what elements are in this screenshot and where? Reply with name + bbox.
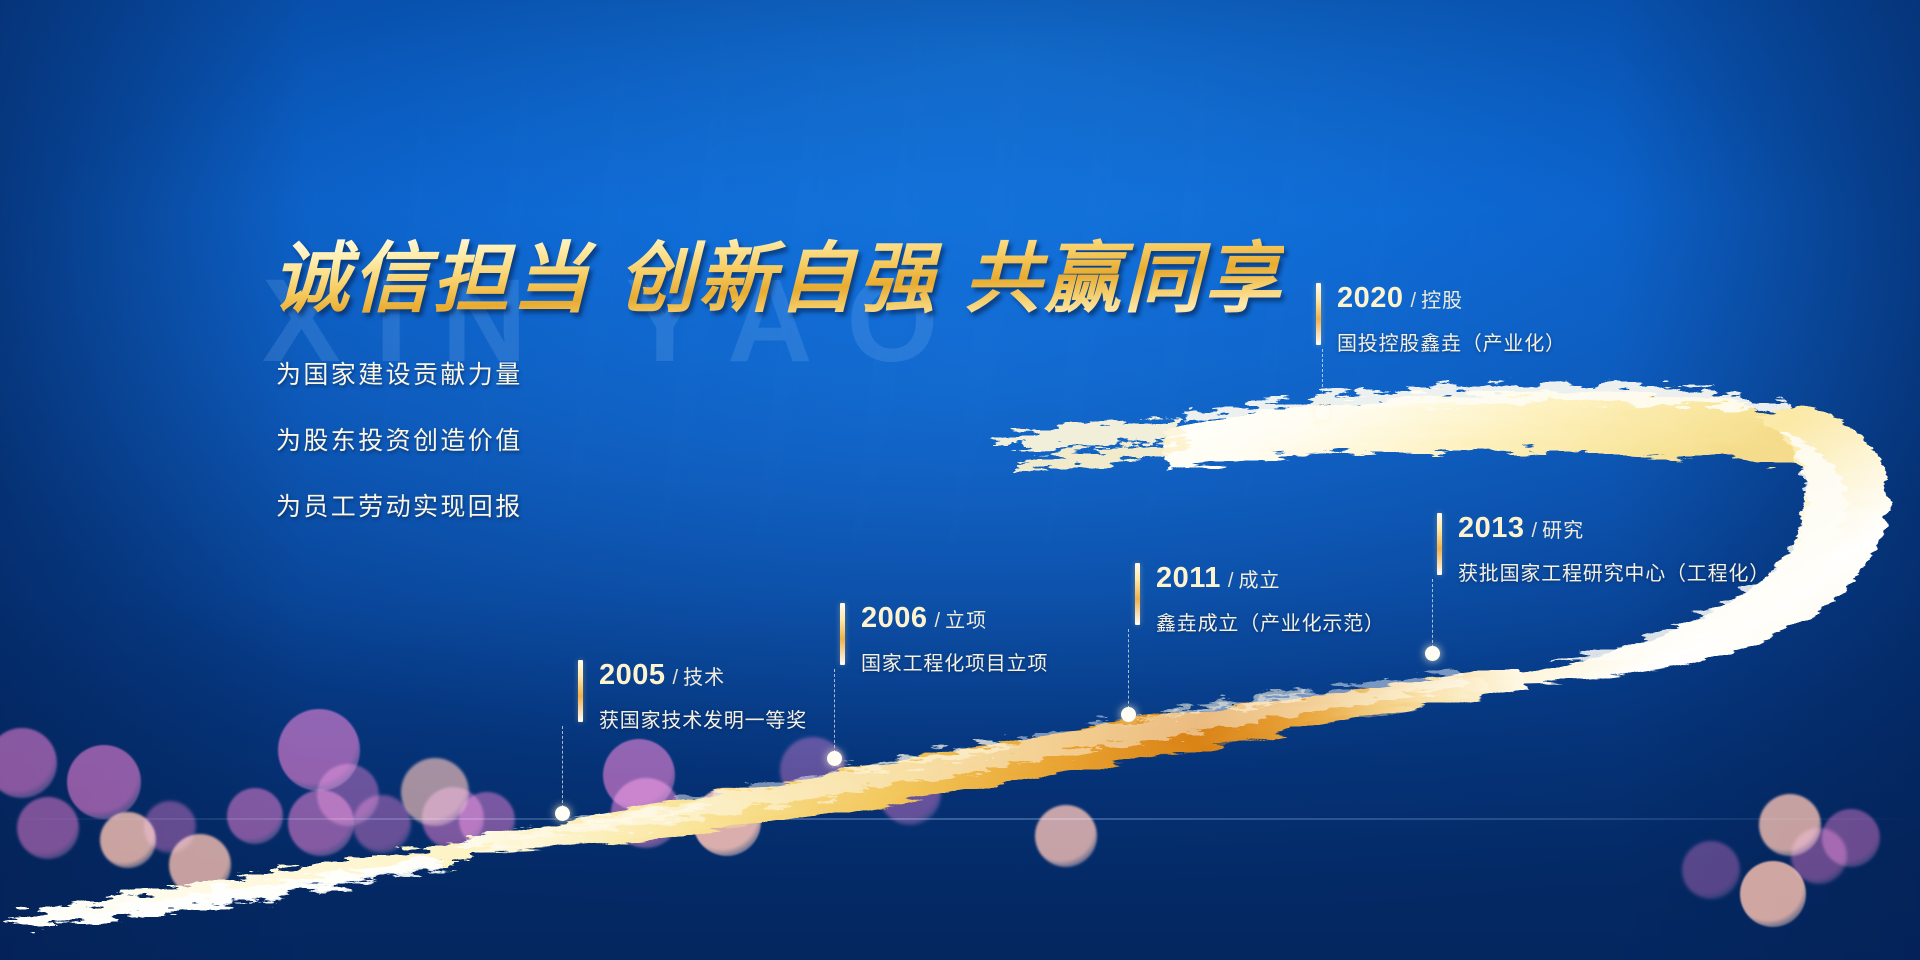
milestone-description: 国投控股鑫垚（产业化） xyxy=(1337,327,1566,356)
milestone-title-line: 2020/控股 xyxy=(1337,284,1566,313)
milestone-head: 2011/成立 鑫垚成立（产业化示范） xyxy=(1135,563,1385,636)
milestone-dot[interactable] xyxy=(1315,405,1330,420)
milestone-accent-bar xyxy=(1437,513,1442,575)
milestone-head: 2005/技术 获国家技术发明一等奖 xyxy=(578,660,807,733)
milestone-dot[interactable] xyxy=(827,751,842,766)
slogan-list: 为国家建设贡献力量 为股东投资创造价值 为员工劳动实现回报 xyxy=(276,355,523,523)
milestone-kind: 研究 xyxy=(1542,520,1584,542)
milestone-2020[interactable]: 2020/控股 国投控股鑫垚（产业化） xyxy=(1316,283,1566,356)
milestone-accent-bar xyxy=(840,603,845,665)
milestone-2005[interactable]: 2005/技术 获国家技术发明一等奖 xyxy=(578,660,807,733)
milestone-kind: 成立 xyxy=(1238,570,1280,592)
milestone-separator: / xyxy=(673,667,679,689)
milestone-separator: / xyxy=(1532,520,1538,542)
milestone-2011[interactable]: 2011/成立 鑫垚成立（产业化示范） xyxy=(1135,563,1385,636)
slogan-line-1: 为国家建设贡献力量 xyxy=(276,355,523,391)
milestone-year: 2006 xyxy=(861,602,928,634)
milestone-2013[interactable]: 2013/研究 获批国家工程研究中心（工程化） xyxy=(1437,513,1770,586)
milestone-year: 2020 xyxy=(1337,282,1404,314)
milestone-dot[interactable] xyxy=(555,806,570,821)
milestone-2006[interactable]: 2006/立项 国家工程化项目立项 xyxy=(840,603,1048,676)
milestone-texts: 2020/控股 国投控股鑫垚（产业化） xyxy=(1337,283,1566,356)
milestone-description: 国家工程化项目立项 xyxy=(861,647,1048,676)
milestone-kind: 技术 xyxy=(683,667,725,689)
milestone-kind: 立项 xyxy=(945,610,987,632)
milestone-title-line: 2005/技术 xyxy=(599,661,807,690)
milestone-head: 2013/研究 获批国家工程研究中心（工程化） xyxy=(1437,513,1770,586)
milestone-title-line: 2006/立项 xyxy=(861,604,1048,633)
milestone-head: 2006/立项 国家工程化项目立项 xyxy=(840,603,1048,676)
milestone-dot[interactable] xyxy=(1121,707,1136,722)
headline-part-3: 共赢同享 xyxy=(964,236,1284,322)
milestone-description: 获批国家工程研究中心（工程化） xyxy=(1458,557,1770,586)
milestone-accent-bar xyxy=(1316,283,1321,345)
milestone-title-line: 2011/成立 xyxy=(1156,564,1385,593)
milestone-separator: / xyxy=(935,610,941,632)
headline-part-1: 诚信担当 xyxy=(272,236,592,322)
milestone-separator: / xyxy=(1228,570,1234,592)
milestone-description: 鑫垚成立（产业化示范） xyxy=(1156,607,1385,636)
milestone-dot[interactable] xyxy=(1425,646,1440,661)
milestone-title-line: 2013/研究 xyxy=(1458,514,1770,543)
banner-stage: XIN YAO 诚信担当创新自强共赢同享 为国家建设贡献力量 为股东投资创造价值… xyxy=(0,0,1920,960)
milestone-accent-bar xyxy=(1135,563,1140,625)
milestone-separator: / xyxy=(1411,290,1417,312)
milestone-connector-line xyxy=(1128,629,1129,714)
milestone-description: 获国家技术发明一等奖 xyxy=(599,704,807,733)
milestone-connector-line xyxy=(1322,349,1323,412)
milestone-texts: 2013/研究 获批国家工程研究中心（工程化） xyxy=(1458,513,1770,586)
milestone-accent-bar xyxy=(578,660,583,722)
milestone-year: 2005 xyxy=(599,659,666,691)
slogan-line-3: 为员工劳动实现回报 xyxy=(276,487,523,523)
milestone-texts: 2006/立项 国家工程化项目立项 xyxy=(861,603,1048,676)
slogan-line-2: 为股东投资创造价值 xyxy=(276,421,523,457)
milestone-texts: 2011/成立 鑫垚成立（产业化示范） xyxy=(1156,563,1385,636)
milestone-year: 2013 xyxy=(1458,512,1525,544)
milestone-year: 2011 xyxy=(1156,562,1221,594)
headline-part-2: 创新自强 xyxy=(618,236,938,322)
page-title: 诚信担当创新自强共赢同享 xyxy=(272,238,1284,321)
milestone-texts: 2005/技术 获国家技术发明一等奖 xyxy=(599,660,807,733)
milestone-connector-line xyxy=(562,726,563,813)
milestone-connector-line xyxy=(1432,579,1433,653)
milestone-head: 2020/控股 国投控股鑫垚（产业化） xyxy=(1316,283,1566,356)
milestone-kind: 控股 xyxy=(1421,290,1463,312)
milestone-connector-line xyxy=(834,669,835,758)
